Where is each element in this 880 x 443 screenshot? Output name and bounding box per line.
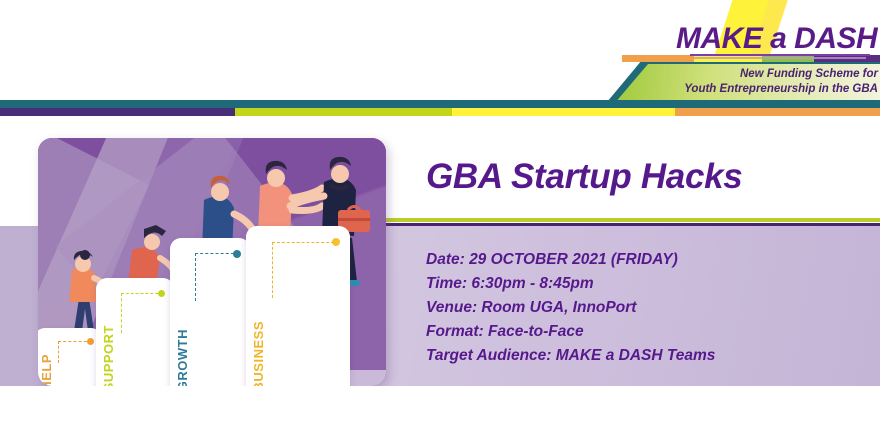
step-card-support: SUPPORT [96, 278, 174, 386]
detail-venue: Venue: Room UGA, InnoPort [426, 296, 856, 320]
stripe-yellow [452, 108, 675, 116]
stripe-orange [675, 108, 880, 116]
event-details: Date: 29 OCTOBER 2021 (FRIDAY) Time: 6:3… [426, 248, 856, 368]
footer: Organiser Sponsor 研究及知識轉移服務處 Office of R… [0, 386, 880, 443]
step-connector-business [272, 242, 334, 298]
step-label-business: BUSINESS [251, 321, 266, 386]
brand-tagline: New Funding Scheme for Youth Entrepreneu… [630, 67, 878, 97]
staircase-illustration: HELP SUPPORT GROWTH BUSINESS [38, 138, 386, 386]
logo-underline-2 [694, 57, 866, 59]
brand-tagline-line-2: Youth Entrepreneurship in the GBA [630, 82, 878, 97]
stripe-purple [0, 108, 235, 116]
detail-audience: Target Audience: MAKE a DASH Teams [426, 344, 856, 368]
step-connector-support [121, 293, 163, 333]
step-card-help: HELP [38, 328, 102, 386]
step-label-growth: GROWTH [175, 329, 190, 386]
step-card-growth: GROWTH [170, 238, 250, 386]
step-label-support: SUPPORT [101, 325, 116, 386]
step-card-business: BUSINESS [246, 226, 350, 386]
event-banner: MAKE a DASH New Funding Scheme for Youth… [0, 0, 880, 443]
page-title: GBA Startup Hacks [426, 157, 742, 197]
brand-tagline-line-1: New Funding Scheme for [630, 67, 878, 82]
detail-format: Format: Face-to-Face [426, 320, 856, 344]
logo-underline-1 [690, 54, 870, 56]
detail-date: Date: 29 OCTOBER 2021 (FRIDAY) [426, 248, 856, 272]
stripe-lime [235, 108, 452, 116]
step-connector-growth [195, 253, 239, 301]
step-connector-help [58, 341, 92, 363]
step-label-help: HELP [39, 354, 54, 386]
detail-time: Time: 6:30pm - 8:45pm [426, 272, 856, 296]
header-stripe-bar [0, 108, 880, 116]
make-a-dash-logo: MAKE a DASH [676, 22, 876, 56]
header-teal-band [0, 100, 880, 108]
